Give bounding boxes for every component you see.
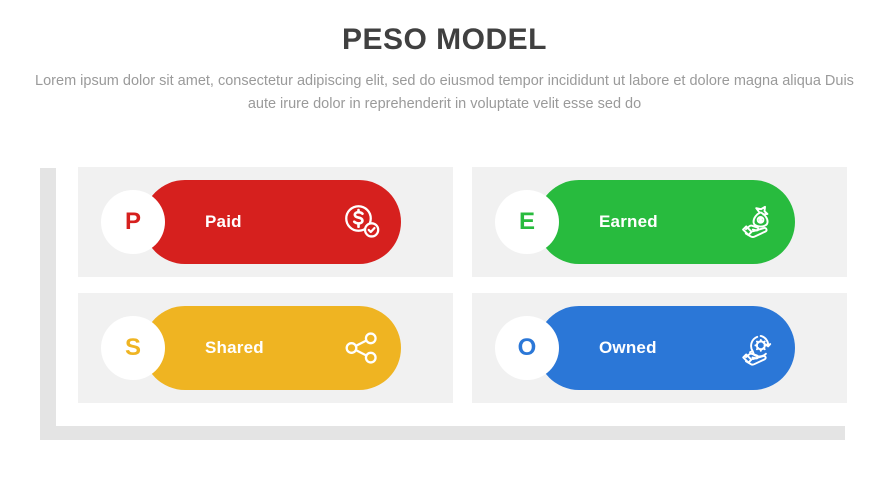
pill-label-earned: Earned — [599, 212, 735, 232]
badge-paid: P — [101, 190, 165, 254]
page-header: PESO MODEL Lorem ipsum dolor sit amet, c… — [0, 0, 889, 116]
badge-letter-paid: P — [125, 210, 141, 234]
pill-paid[interactable]: Paid — [143, 180, 401, 264]
dollar-circle-check-icon — [341, 201, 383, 243]
peso-cell-owned[interactable]: Owned O — [472, 293, 847, 403]
page-subtitle: Lorem ipsum dolor sit amet, consectetur … — [35, 70, 855, 116]
badge-shared: S — [101, 316, 165, 380]
peso-grid: Paid P Earned — [78, 167, 843, 403]
share-network-icon — [341, 327, 383, 369]
page-title: PESO MODEL — [0, 22, 889, 58]
peso-cell-paid[interactable]: Paid P — [78, 167, 453, 277]
peso-cell-earned[interactable]: Earned E — [472, 167, 847, 277]
hand-gear-refresh-icon — [735, 327, 777, 369]
hand-money-bag-icon — [735, 201, 777, 243]
peso-cell-shared[interactable]: Shared S — [78, 293, 453, 403]
pill-earned[interactable]: Earned — [537, 180, 795, 264]
badge-letter-owned: O — [518, 336, 537, 360]
pill-label-paid: Paid — [205, 212, 341, 232]
pill-shared[interactable]: Shared — [143, 306, 401, 390]
pill-label-owned: Owned — [599, 338, 735, 358]
content-frame: Paid P Earned — [0, 140, 889, 460]
pill-owned[interactable]: Owned — [537, 306, 795, 390]
badge-earned: E — [495, 190, 559, 254]
badge-letter-earned: E — [519, 210, 535, 234]
pill-label-shared: Shared — [205, 338, 341, 358]
badge-owned: O — [495, 316, 559, 380]
badge-letter-shared: S — [125, 336, 141, 360]
